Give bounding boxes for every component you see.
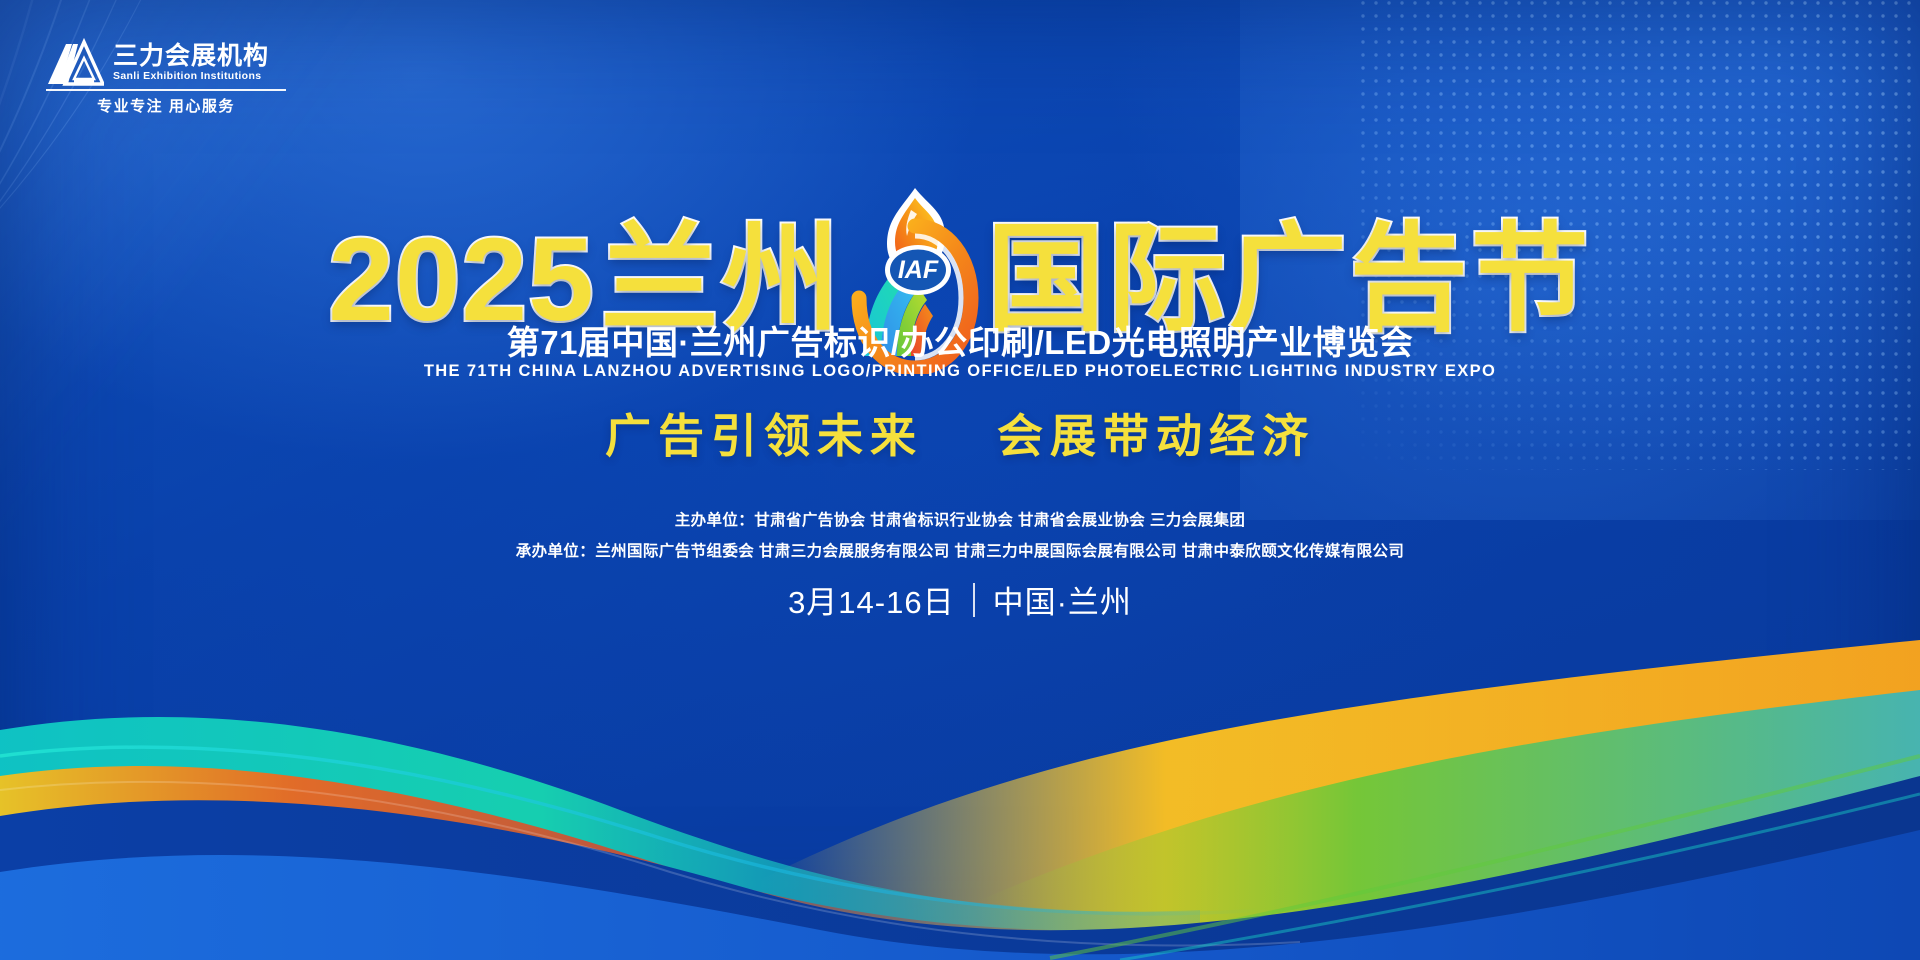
subtitle-chinese: 第71届中国·兰州广告标识/办公印刷/LED光电照明产业博览会 [0, 316, 1920, 364]
logo-slogan: 专业专注 用心服务 [46, 95, 286, 116]
logo-divider [46, 89, 286, 91]
host-organizers-line: 主办单位：甘肃省广告协会 甘肃省标识行业协会 甘肃省会展业协会 三力会展集团 [0, 505, 1920, 536]
banner-canvas: 三力会展机构 Sanli Exhibition Institutions 专业专… [0, 0, 1920, 960]
subtitle-english: THE 71TH CHINA LANZHOU ADVERTISING LOGO/… [0, 362, 1920, 381]
event-slogan: 广告引领未来 会展带动经济 [0, 400, 1920, 466]
logo-row: 三力会展机构 Sanli Exhibition Institutions [46, 38, 286, 86]
event-location: 中国·兰州 [993, 577, 1132, 622]
co-host-organizers-line: 承办单位：兰州国际广告节组委会 甘肃三力会展服务有限公司 甘肃三力中展国际会展有… [0, 536, 1920, 567]
slogan-right: 会展带动经济 [997, 400, 1315, 466]
organizers-block: 主办单位：甘肃省广告协会 甘肃省标识行业协会 甘肃省会展业协会 三力会展集团 承… [0, 505, 1920, 567]
svg-text:IAF: IAF [898, 256, 939, 284]
slogan-left: 广告引领未来 [605, 400, 923, 466]
decorative-wave-ribbons [0, 580, 1920, 960]
brand-logo[interactable]: 三力会展机构 Sanli Exhibition Institutions 专业专… [46, 38, 286, 116]
event-date-location: 3月14-16日 中国·兰州 [0, 577, 1920, 622]
event-date: 3月14-16日 [788, 577, 955, 622]
sanli-triangle-logo-icon [46, 38, 104, 86]
logo-name-en: Sanli Exhibition Institutions [113, 69, 269, 85]
logo-text-block: 三力会展机构 Sanli Exhibition Institutions [113, 43, 269, 86]
logo-name-cn: 三力会展机构 [113, 42, 269, 70]
date-location-divider [973, 583, 975, 617]
